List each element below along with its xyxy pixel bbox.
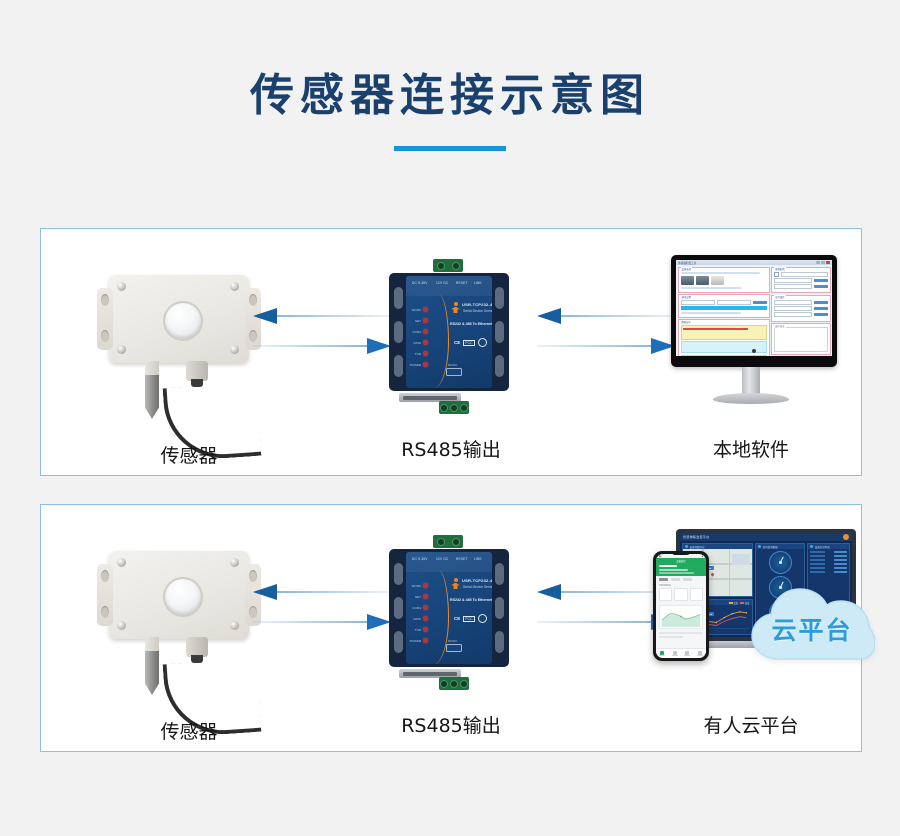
tabbar-item-profile[interactable] (694, 649, 707, 658)
read-button[interactable] (814, 301, 828, 304)
tabbar-item-alerts[interactable] (681, 649, 694, 658)
logo-body (451, 583, 460, 590)
node-label-cloud: 有人云平台 (641, 711, 861, 738)
bracket-slot (495, 563, 504, 585)
terminal-hole (452, 538, 460, 546)
map-pin-icon[interactable] (710, 573, 714, 577)
mount-hole (101, 294, 109, 306)
sensor-enclosure (109, 551, 249, 639)
device-thumb (681, 276, 694, 285)
led-label: WORK (409, 584, 421, 588)
monitor-screen: 传感器配置工具 设备选择 (676, 260, 832, 356)
node-label-sensor: 传感器 (79, 441, 299, 468)
user-avatar[interactable] (843, 534, 849, 540)
led-indicator-column: WORK NET COM1 DATA (409, 580, 435, 646)
node-converter: DC 5-36V 12V DC RESET LINK WORK NET (361, 247, 541, 463)
sensor-probe (145, 651, 159, 695)
phone-tabs[interactable] (656, 576, 706, 583)
probe-neck (145, 361, 159, 377)
close-button[interactable] (826, 261, 830, 264)
certification-marks: CE FCC (454, 338, 487, 347)
page-title: 传感器连接示意图 (0, 72, 900, 120)
screw-icon (117, 621, 126, 630)
db9-pins (403, 396, 457, 400)
group-read-write: 读写操作 (771, 295, 830, 322)
node-cloud-platform: 智慧物联监控平台 设备地图分布 (631, 523, 871, 739)
led-indicator-column: WORK NET COM1 DATA (409, 304, 435, 370)
sensor-enclosure (109, 275, 249, 363)
logo-head (454, 302, 458, 306)
converter-top-label: LINK (474, 557, 482, 561)
write-button[interactable] (814, 313, 828, 316)
set-button[interactable] (814, 285, 828, 288)
led-icon (423, 307, 428, 312)
table-cell (834, 551, 847, 553)
usb-port-label: MICRO (448, 639, 457, 643)
phone-tabbar[interactable] (656, 648, 706, 658)
led-label: NET (409, 319, 421, 323)
node-label-sensor-2: 传感器 (79, 717, 299, 744)
screw-icon (117, 282, 126, 291)
table-cell (834, 555, 847, 557)
converter-top-label: 12V DC (436, 557, 448, 561)
left-column: 设备选择 通讯设置 (678, 267, 770, 355)
device-thumb (711, 276, 724, 285)
hero-line (659, 569, 688, 571)
table-cell (834, 559, 847, 561)
minimize-button[interactable] (816, 261, 820, 264)
window-controls (816, 261, 830, 264)
device-thumb (696, 276, 709, 285)
table-cell (810, 567, 825, 569)
monitor-frame: 传感器配置工具 设备选择 (671, 255, 837, 367)
phone-chart (659, 605, 703, 629)
table-row (808, 570, 849, 574)
text-field[interactable] (774, 312, 812, 317)
metric-cards (659, 588, 703, 601)
field-row (774, 306, 827, 311)
field-row (681, 300, 767, 305)
led-label: DATA (409, 341, 421, 345)
sensor-probe (145, 375, 159, 419)
screw-icon (117, 558, 126, 567)
table-cell (834, 571, 847, 573)
gauge-icon (758, 545, 761, 548)
metric-card (659, 588, 672, 601)
converter-top-label: RESET (456, 281, 468, 285)
terminal-hole (437, 262, 445, 270)
phone-screen: ▮▮ ▮ 设备监控 (656, 554, 706, 658)
led-icon (423, 340, 428, 345)
ce-mark-icon: CE (454, 616, 460, 621)
group-device-select: 设备选择 (678, 267, 770, 293)
bracket-slot (495, 597, 504, 619)
progress-bar (681, 306, 767, 310)
diagram-panel-local: 传感器 (40, 228, 862, 476)
group-log: 运行日志 (771, 323, 830, 355)
hero-line (659, 565, 677, 567)
terminal-hole (440, 404, 448, 412)
led-row: DATA (409, 337, 435, 348)
window-body: 设备选择 通讯设置 (676, 265, 832, 356)
bracket-slot (495, 287, 504, 309)
phone-area-chart-svg (660, 606, 702, 628)
chart-icon (673, 651, 677, 655)
led-row: WORK (409, 304, 435, 315)
smartphone: ▮▮ ▮ 设备监控 (653, 551, 709, 661)
phone-hero-card (656, 563, 706, 576)
certification-marks: CE FCC (454, 614, 487, 623)
db9-pins (403, 672, 457, 676)
converter-body: DC 5-36V 12V DC RESET LINK WORK NET (406, 276, 492, 388)
phone-nav-title: 设备监控 (676, 559, 686, 563)
led-row: TXD (409, 348, 435, 359)
dashboard-title: 智慧物联监控平台 (683, 535, 709, 539)
mounting-bracket: DC 5-36V 12V DC RESET LINK WORK NET (389, 549, 509, 667)
table-cell (834, 567, 847, 569)
converter-top-label: RESET (456, 557, 468, 561)
bracket-slot (394, 563, 403, 585)
terminal-hole (452, 262, 460, 270)
field-row (774, 312, 827, 317)
set-button[interactable] (814, 279, 828, 282)
alert-line (683, 328, 749, 330)
arrow-head-left-icon (537, 584, 561, 600)
led-row: COM1 (409, 602, 435, 613)
result-box (681, 355, 767, 356)
led-row: POWER (409, 359, 435, 370)
bracket-slot (394, 355, 403, 377)
phone-tab[interactable] (671, 578, 680, 581)
metric-card (674, 588, 687, 601)
page-header: 传感器连接示意图 (0, 0, 900, 151)
tab-label (684, 655, 690, 656)
tabbar-item-home[interactable] (656, 649, 669, 658)
checkbox[interactable] (774, 272, 779, 277)
diagram-row-cloud: 传感器 (41, 505, 861, 751)
sensor-dome (163, 301, 203, 341)
converter-top-label: DC 5-36V (412, 281, 428, 285)
usb-port (446, 368, 462, 376)
arrow-head-left-icon (253, 584, 277, 600)
log-textarea[interactable] (774, 327, 827, 352)
led-icon (423, 362, 428, 367)
arrow-head-left-icon (253, 308, 277, 324)
cloud-label: 云平台 (749, 585, 875, 663)
text-field[interactable] (774, 300, 812, 305)
phone-list (656, 631, 706, 642)
led-row: NET (409, 591, 435, 602)
phone-battery-icon: ▮ (702, 555, 703, 558)
screw-icon (230, 558, 239, 567)
node-label-converter: RS485输出 (341, 435, 561, 462)
bracket-slot (394, 631, 403, 653)
led-row: DATA (409, 613, 435, 624)
converter-function: RS232 & 485 To Ethernet (450, 598, 492, 602)
text-field[interactable] (717, 300, 752, 305)
device-table (808, 549, 849, 574)
phone-notch (672, 551, 690, 555)
terminal-block-bottom (439, 677, 469, 690)
monitor-stand-base (713, 393, 789, 404)
bracket-slot (394, 287, 403, 309)
mount-hole (101, 606, 109, 618)
list-item (659, 636, 683, 638)
phone-tab[interactable] (659, 578, 668, 581)
write-button[interactable] (814, 307, 828, 310)
apply-button[interactable] (753, 301, 767, 304)
converter-top-label: LINK (474, 281, 482, 285)
table-cell (810, 551, 825, 553)
bracket-slot (495, 355, 504, 377)
arrow-shaft (253, 621, 367, 623)
legend-swatch (740, 602, 744, 604)
gauge-hub (779, 561, 782, 564)
terminal-block-top (433, 259, 463, 272)
led-label: DATA (409, 617, 421, 621)
phone-metrics-section (656, 583, 706, 603)
led-icon (423, 605, 428, 610)
right-column: 参数配置 (771, 267, 830, 355)
converter-function: RS232 & 485 To Ethernet (450, 322, 492, 326)
terminal-block-top (433, 535, 463, 548)
diagram-panel-cloud: 传感器 (40, 504, 862, 752)
hero-line (659, 572, 694, 574)
led-icon (423, 583, 428, 588)
led-label: NET (409, 595, 421, 599)
mount-hole (249, 294, 257, 306)
map-road (729, 549, 731, 596)
phone-tab[interactable] (683, 578, 692, 581)
group-title: 运行日志 (774, 324, 786, 328)
led-icon (423, 638, 428, 643)
group-title: 设备选择 (681, 267, 693, 271)
led-icon (423, 616, 428, 621)
group-comm-settings: 通讯设置 (678, 294, 770, 317)
rohs-mark-icon (478, 614, 487, 623)
led-row: TXD (409, 624, 435, 635)
converter-top-label: 12V DC (436, 281, 448, 285)
sensor-dome (163, 577, 203, 617)
device-thumbnails (681, 276, 767, 285)
card-title: 实时监测数据 (763, 545, 778, 549)
location-icon (685, 545, 688, 548)
list-item (659, 632, 703, 634)
terminal-hole (450, 404, 458, 412)
form-line (681, 272, 760, 274)
window-title: 传感器配置工具 (678, 261, 696, 265)
node-converter-2: DC 5-36V 12V DC RESET LINK WORK NET (361, 523, 541, 739)
text-field[interactable] (681, 300, 716, 305)
node-monitor: 传感器配置工具 设备选择 (641, 247, 861, 463)
card-title: 设备信息列表 (815, 545, 830, 549)
bell-icon (685, 651, 689, 655)
metric-card (690, 588, 703, 601)
group-title: 读写操作 (774, 295, 786, 299)
converter-top-strip (406, 552, 492, 572)
table-cell (810, 559, 825, 561)
list-icon (810, 545, 813, 548)
led-label: POWER (409, 639, 421, 643)
led-icon (423, 318, 428, 323)
user-icon (698, 651, 702, 655)
alert-box (681, 325, 767, 340)
usr-person-logo-icon (451, 302, 460, 313)
node-label-monitor: 本地软件 (641, 435, 861, 462)
terminal-block-bottom (439, 401, 469, 414)
diagram-row-local: 传感器 (41, 229, 861, 475)
mounting-bracket: DC 5-36V 12V DC RESET LINK WORK NET (389, 273, 509, 391)
table-cell (810, 571, 825, 573)
led-icon (423, 329, 428, 334)
tab-label (697, 655, 703, 656)
group-title: 通讯设置 (681, 295, 693, 299)
led-row: POWER (409, 635, 435, 646)
logo-head (454, 578, 458, 582)
ce-mark-icon: CE (454, 340, 460, 345)
converter-top-strip (406, 276, 492, 296)
group-title: 数据显示 (681, 320, 693, 324)
cable-gland (186, 637, 208, 657)
node-label-converter-2: RS485输出 (341, 711, 561, 738)
led-label: COM1 (409, 606, 421, 610)
text-field[interactable] (774, 284, 812, 289)
led-row: COM1 (409, 326, 435, 337)
map-water-area (732, 554, 750, 565)
field-row (774, 272, 827, 277)
text-field[interactable] (781, 272, 828, 277)
terminal-hole (437, 538, 445, 546)
field-row (774, 284, 827, 289)
converter-subtitle: Serial Device Server (463, 309, 492, 313)
field-row (774, 278, 827, 283)
mount-hole (249, 570, 257, 582)
cloud-shape: 云平台 (749, 585, 875, 663)
converter-model: USR-TCP232-410s (462, 302, 492, 307)
led-row: NET (409, 315, 435, 326)
mount-hole (101, 330, 109, 342)
form-line (681, 287, 741, 289)
tab-label (659, 655, 665, 656)
led-label: POWER (409, 363, 421, 367)
led-icon (423, 594, 428, 599)
rohs-mark-icon (478, 338, 487, 347)
probe-neck (145, 637, 159, 653)
table-cell (810, 563, 825, 565)
title-underline (394, 146, 506, 151)
bracket-slot (394, 321, 403, 343)
card-title: 设备地图分布 (690, 545, 705, 549)
screw-icon (230, 282, 239, 291)
group-title: 参数配置 (774, 267, 786, 271)
converter-model: USR-TCP232-410s (462, 578, 492, 583)
table-cell (834, 563, 847, 565)
mounting-ear-left (97, 564, 113, 626)
bracket-slot (495, 631, 504, 653)
arrow-head-left-icon (537, 308, 561, 324)
mounting-ear-left (97, 288, 113, 350)
arrow-shaft (253, 345, 367, 347)
section-heading (659, 584, 671, 586)
tabbar-item-data[interactable] (669, 649, 682, 658)
legend-swatch (729, 602, 733, 604)
converter-subtitle: Serial Device Server (463, 585, 492, 589)
fcc-mark-icon: FCC (463, 340, 474, 346)
monitor-stand-neck (742, 367, 760, 395)
usb-port-label: MICRO (448, 363, 457, 367)
power-indicator (752, 349, 756, 353)
terminal-hole (460, 680, 468, 688)
led-icon (423, 627, 428, 632)
text-field[interactable] (774, 278, 812, 283)
usb-port (446, 644, 462, 652)
led-icon (423, 351, 428, 356)
bracket-slot (394, 597, 403, 619)
screw-icon (230, 345, 239, 354)
group-param-config: 参数配置 (771, 267, 830, 294)
tab-label (672, 655, 678, 656)
bracket-slot (495, 321, 504, 343)
converter-top-label: DC 5-36V (412, 557, 428, 561)
terminal-hole (450, 680, 458, 688)
cable-gland (186, 361, 208, 381)
arrow-shaft (537, 345, 651, 347)
converter-body: DC 5-36V 12V DC RESET LINK WORK NET (406, 552, 492, 664)
maximize-button[interactable] (821, 261, 825, 264)
led-label: TXD (409, 628, 421, 632)
led-label: TXD (409, 352, 421, 356)
usr-person-logo-icon (451, 578, 460, 589)
dashboard-header: 智慧物联监控平台 (680, 533, 852, 541)
screw-icon (230, 621, 239, 630)
terminal-hole (440, 680, 448, 688)
mount-hole (101, 570, 109, 582)
led-label: WORK (409, 308, 421, 312)
form-line (681, 312, 741, 314)
text-field[interactable] (774, 306, 812, 311)
led-label: COM1 (409, 330, 421, 334)
logo-body (451, 307, 460, 314)
home-icon (660, 651, 664, 655)
fcc-mark-icon: FCC (463, 616, 474, 622)
table-cell (810, 555, 825, 557)
led-row: WORK (409, 580, 435, 591)
field-row (774, 300, 827, 305)
terminal-hole (460, 404, 468, 412)
screw-icon (117, 345, 126, 354)
phone-signal-icon: ▮▮ (659, 555, 661, 558)
gauge-widget (769, 551, 792, 574)
